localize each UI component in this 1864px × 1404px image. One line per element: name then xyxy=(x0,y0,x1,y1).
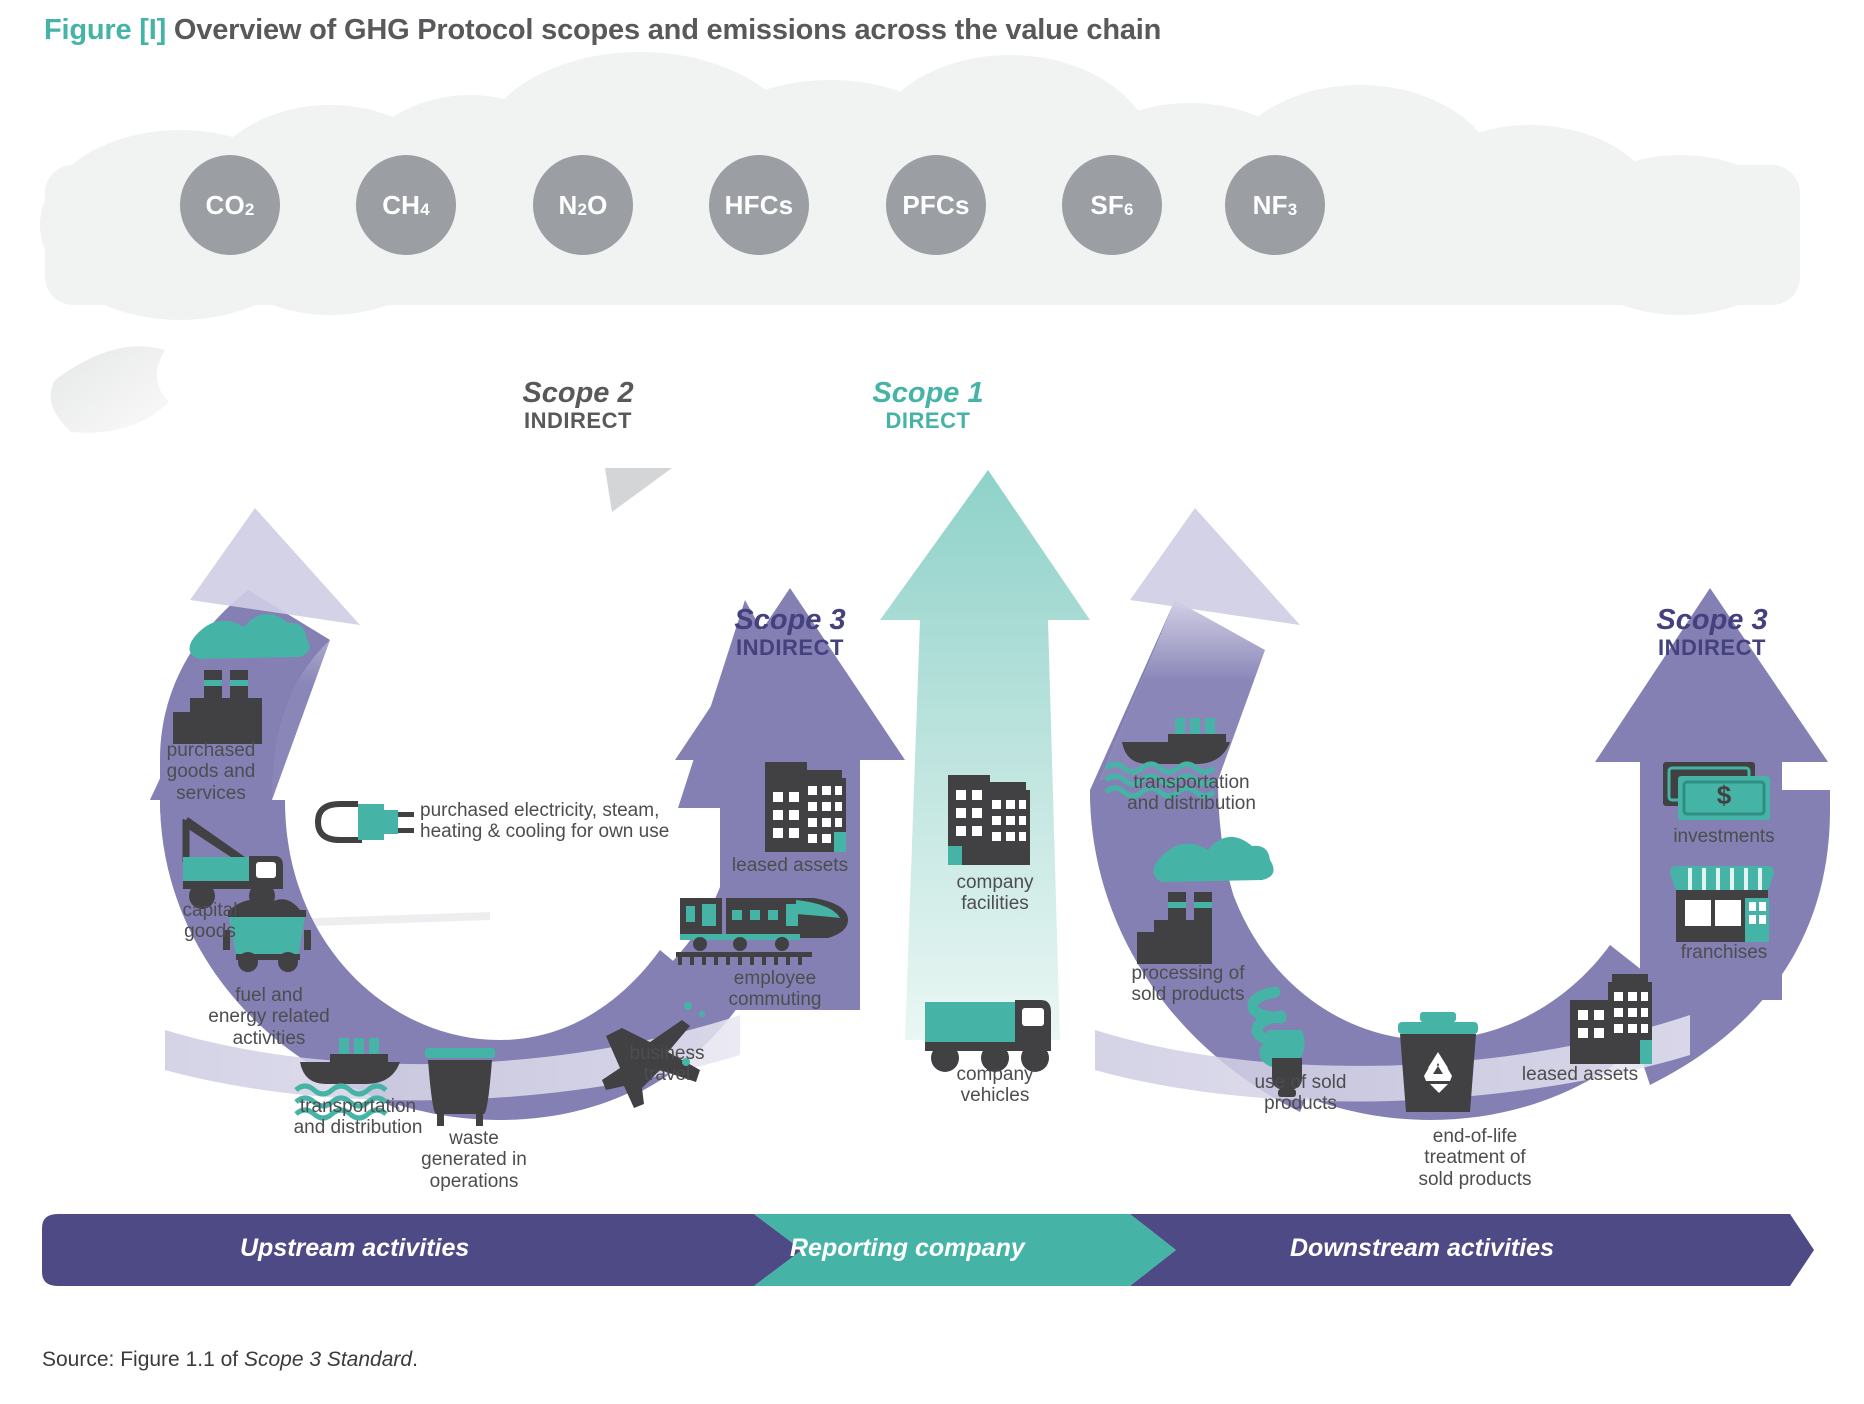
label-investments: investments xyxy=(1640,826,1808,847)
banner-upstream-label: Upstream activities xyxy=(240,1234,469,1263)
label-downstream-transportation: transportation and distribution xyxy=(1104,772,1279,815)
gas-formula: CH xyxy=(382,190,420,221)
gas-formula: CO xyxy=(205,190,244,221)
label-end-of-life: end-of-life treatment of sold products xyxy=(1385,1126,1565,1190)
label-purchased-electricity: purchased electricity, steam, heating & … xyxy=(420,800,680,843)
source-note: Source: Figure 1.1 of Scope 3 Standard. xyxy=(42,1348,418,1372)
gas-circle-hfcs: HFCs xyxy=(709,155,809,255)
gas-subscript: 2 xyxy=(245,200,255,220)
source-suffix: . xyxy=(412,1348,418,1371)
scope-3-downstream-name: Scope 3 xyxy=(1612,605,1812,635)
plug-icon xyxy=(318,804,414,840)
label-fuel-energy: fuel and energy related activities xyxy=(178,985,360,1049)
label-company-facilities: company facilities xyxy=(930,872,1060,915)
scope-3-upstream-type: INDIRECT xyxy=(690,635,890,661)
gas-subscript: 2 xyxy=(577,200,587,220)
label-use-of-sold-products: use of sold products xyxy=(1228,1072,1373,1115)
scope-1-name: Scope 1 xyxy=(828,378,1028,408)
scope-2-header: Scope 2 INDIRECT xyxy=(478,378,678,434)
recycle-bin-icon xyxy=(1398,1012,1478,1112)
scope-3-downstream-header: Scope 3 INDIRECT xyxy=(1612,605,1812,661)
gas-circle-nitrous-oxide: N2O xyxy=(533,155,633,255)
gas-suffix: O xyxy=(587,190,607,221)
label-downstream-leased-assets: leased assets xyxy=(1490,1064,1670,1085)
banner-reporting-label: Reporting company xyxy=(790,1234,1025,1263)
banner-downstream-label: Downstream activities xyxy=(1290,1234,1554,1263)
buildings-icon-upstream xyxy=(765,762,846,852)
gas-subscript: 4 xyxy=(420,200,430,220)
label-waste-generated: waste generated in operations xyxy=(410,1128,538,1192)
dollar-sign-label: $ xyxy=(1700,780,1748,811)
label-employee-commuting: employee commuting xyxy=(690,968,860,1011)
gas-formula: NF xyxy=(1253,190,1288,221)
storefront-icon xyxy=(1670,866,1774,942)
scope-3-upstream-name: Scope 3 xyxy=(690,605,890,635)
scope2-arrow xyxy=(605,468,672,512)
gas-circle-methane: CH4 xyxy=(356,155,456,255)
gas-circle-pfcs: PFCs xyxy=(886,155,986,255)
label-business-travel: business travel xyxy=(612,1043,722,1086)
label-company-vehicles: company vehicles xyxy=(930,1064,1060,1107)
source-prefix: Source: Figure 1.1 of xyxy=(42,1348,244,1371)
gas-formula: PFCs xyxy=(902,190,969,221)
label-capital-goods: capital goods xyxy=(155,900,265,943)
scope1-arrow xyxy=(880,470,1090,1040)
gas-circle-carbon-dioxide: CO2 xyxy=(180,155,280,255)
scope-2-type: INDIRECT xyxy=(478,408,678,434)
scope-3-downstream-type: INDIRECT xyxy=(1612,635,1812,661)
source-italic: Scope 3 Standard xyxy=(244,1348,412,1371)
label-franchises: franchises xyxy=(1640,942,1808,963)
scope-1-type: DIRECT xyxy=(828,408,1028,434)
gas-subscript: 3 xyxy=(1288,200,1298,220)
label-purchased-goods: purchased goods and services xyxy=(146,740,276,804)
gas-circle-nf3: NF3 xyxy=(1225,155,1325,255)
gas-formula: SF xyxy=(1090,190,1124,221)
buildings-icon-center xyxy=(948,775,1030,865)
label-upstream-leased-assets: leased assets xyxy=(700,855,880,876)
gas-formula: N xyxy=(558,190,577,221)
gas-subscript: 6 xyxy=(1124,200,1134,220)
gas-circle-sf6: SF6 xyxy=(1062,155,1162,255)
delivery-truck-icon xyxy=(925,1000,1051,1072)
label-processing-sold-products: processing of sold products xyxy=(1108,963,1268,1006)
gas-formula: HFCs xyxy=(725,190,794,221)
scope-1-header: Scope 1 DIRECT xyxy=(828,378,1028,434)
scope-3-upstream-header: Scope 3 INDIRECT xyxy=(690,605,890,661)
scope-2-name: Scope 2 xyxy=(478,378,678,408)
